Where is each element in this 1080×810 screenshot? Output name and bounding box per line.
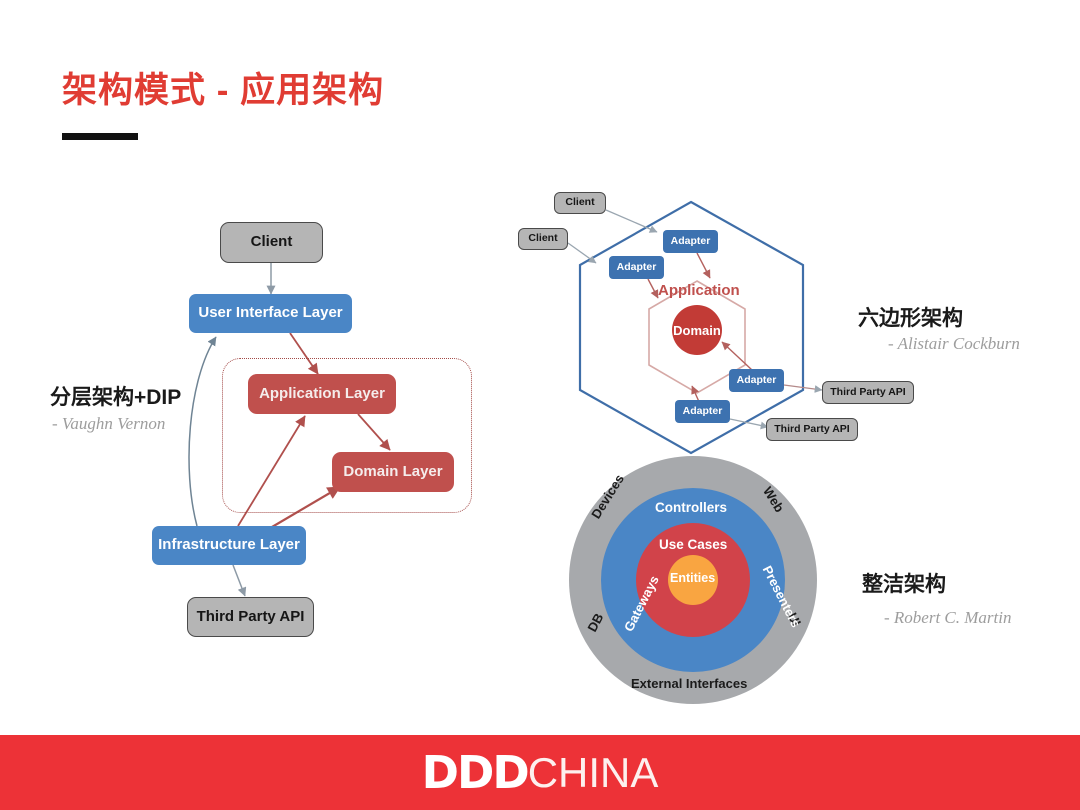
hex-node-client-1[interactable]: Client <box>554 192 606 214</box>
node-label: Third Party API <box>197 609 305 626</box>
ddd-china-logo: DDD CHINA <box>422 746 659 799</box>
layered-caption-author: - Vaughn Vernon <box>52 414 165 434</box>
node-label: Client <box>251 234 293 251</box>
hex-node-third-party-api-2[interactable]: Third Party API <box>766 418 858 441</box>
hex-adapter-left[interactable]: Adapter <box>609 256 664 279</box>
node-label: Adapter <box>683 406 723 418</box>
clean-caption-cn: 整洁架构 <box>862 568 946 598</box>
hex-domain-circle[interactable]: Domain <box>672 305 722 355</box>
node-label: Client <box>565 197 594 209</box>
node-label: Infrastructure Layer <box>158 537 300 554</box>
layered-caption-cn: 分层架构+DIP <box>50 381 181 411</box>
node-label: Third Party API <box>830 387 905 399</box>
node-label: Client <box>528 233 557 245</box>
layered-node-infrastructure-layer[interactable]: Infrastructure Layer <box>152 526 306 565</box>
logo-china-text: CHINA <box>528 749 659 797</box>
slide-canvas: 架构模式 - 应用架构 Client <box>0 0 1080 810</box>
node-label: Adapter <box>617 262 657 274</box>
node-label: Domain <box>673 323 721 338</box>
hex-adapter-right[interactable]: Adapter <box>729 369 784 392</box>
node-label: Domain Layer <box>343 464 442 481</box>
clean-label-external-interfaces: External Interfaces <box>631 676 747 691</box>
hexagonal-caption-author: - Alistair Cockburn <box>888 334 1020 354</box>
footer-bar: DDD CHINA <box>0 735 1080 810</box>
clean-label-entities: Entities <box>670 571 715 585</box>
clean-label-controllers: Controllers <box>655 500 727 515</box>
node-label: Adapter <box>737 375 777 387</box>
hex-node-client-2[interactable]: Client <box>518 228 568 250</box>
node-label: Adapter <box>671 236 711 248</box>
layered-node-client[interactable]: Client <box>220 222 323 263</box>
hex-adapter-bottom[interactable]: Adapter <box>675 400 730 423</box>
node-label: Third Party API <box>774 424 849 436</box>
layered-node-domain-layer[interactable]: Domain Layer <box>332 452 454 492</box>
clean-label-use-cases: Use Cases <box>659 537 727 552</box>
hex-node-third-party-api-1[interactable]: Third Party API <box>822 381 914 404</box>
hex-application-label: Application <box>658 282 740 299</box>
node-label: User Interface Layer <box>198 305 342 322</box>
page-title: 架构模式 - 应用架构 <box>62 62 384 113</box>
hexagonal-caption-cn: 六边形架构 <box>858 302 963 332</box>
layered-node-user-interface-layer[interactable]: User Interface Layer <box>189 294 352 333</box>
layered-node-third-party-api[interactable]: Third Party API <box>187 597 314 637</box>
node-label: Application Layer <box>259 386 385 403</box>
layered-node-application-layer[interactable]: Application Layer <box>248 374 396 414</box>
logo-ddd-mark: DDD <box>422 746 528 799</box>
clean-caption-author: - Robert C. Martin <box>884 608 1012 628</box>
hex-adapter-top[interactable]: Adapter <box>663 230 718 253</box>
title-underline-rule <box>62 133 138 140</box>
